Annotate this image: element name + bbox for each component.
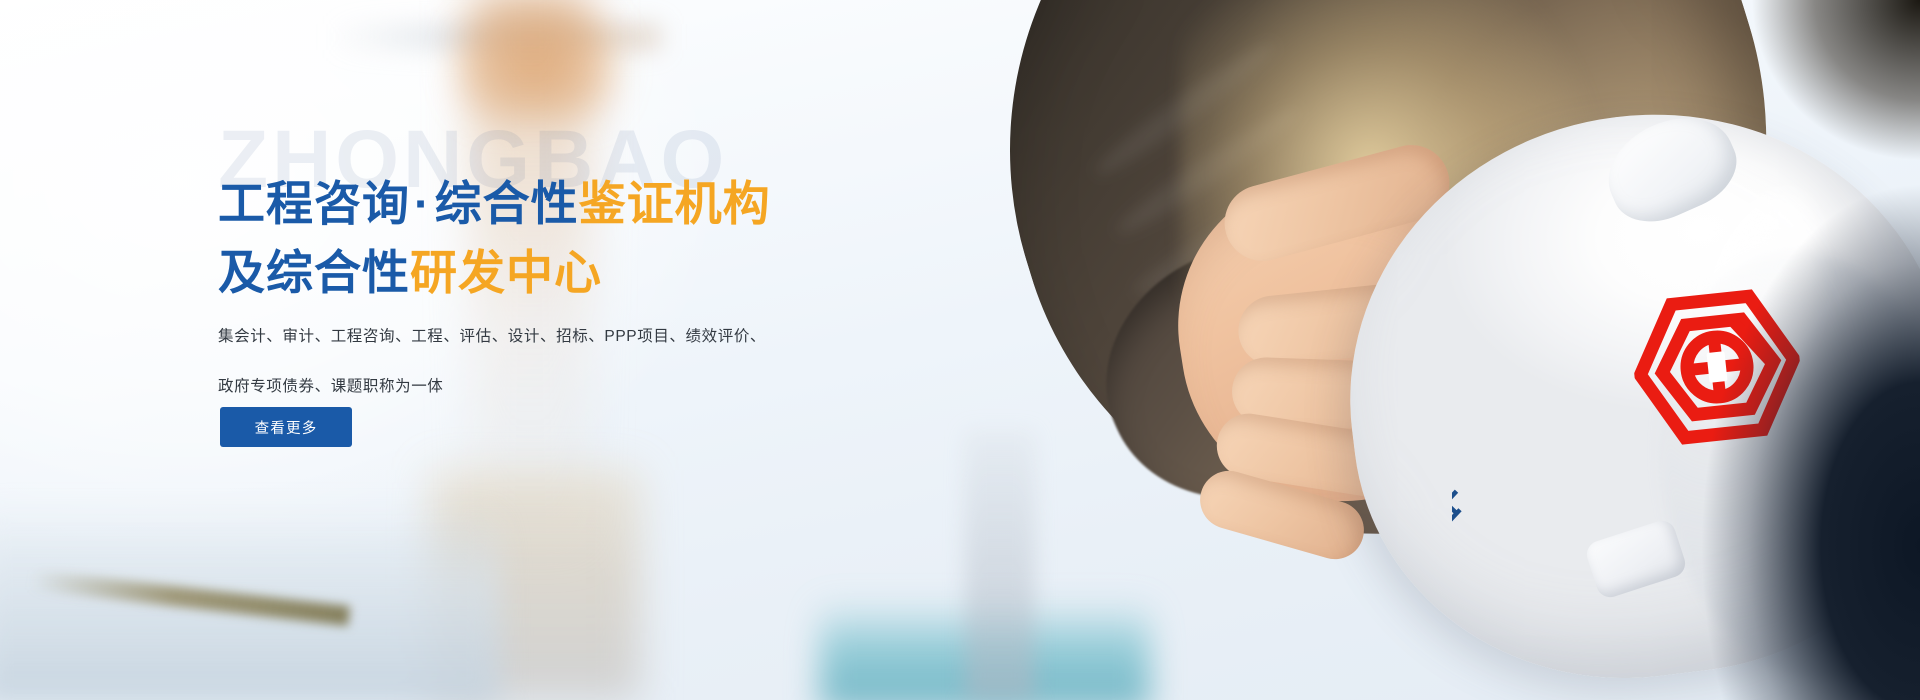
headline-line-1: 工程咨询·综合性鉴证机构 [218,169,771,238]
headline-segment-certification-body: 鉴证机构 [579,177,771,230]
headline: 工程咨询·综合性鉴证机构 及综合性研发中心 [218,169,771,307]
headline-line-2: 及综合性研发中心 [218,238,771,307]
description-line-1: 集会计、审计、工程咨询、工程、评估、设计、招标、PPP项目、绩效评价、 [218,312,766,362]
headline-segment-and-comprehensive: 及综合性 [218,246,410,299]
headline-segment-engineering-consulting: 工程咨询 [218,177,410,230]
description-line-2: 政府专项债券、课题职称为一体 [218,362,766,412]
banner-content: ZHONGBAO 工程咨询·综合性鉴证机构 及综合性研发中心 集会计、审计、工程… [218,0,1038,700]
description: 集会计、审计、工程咨询、工程、评估、设计、招标、PPP项目、绩效评价、 政府专项… [218,312,766,412]
hero-banner: 中宝工程管理 ZHONGBAO [0,0,1920,700]
top-right-vignette [1680,0,1920,230]
headline-separator-dot: · [410,177,435,230]
headline-segment-comprehensive: 综合性 [435,177,579,230]
view-more-button[interactable]: 查看更多 [220,407,352,447]
svg-text:中宝工程管理: 中宝工程管理 [1452,243,1475,530]
helmet-text-path: 中宝工程管理 [1452,243,1475,530]
headline-segment-rd-center: 研发中心 [410,246,602,299]
